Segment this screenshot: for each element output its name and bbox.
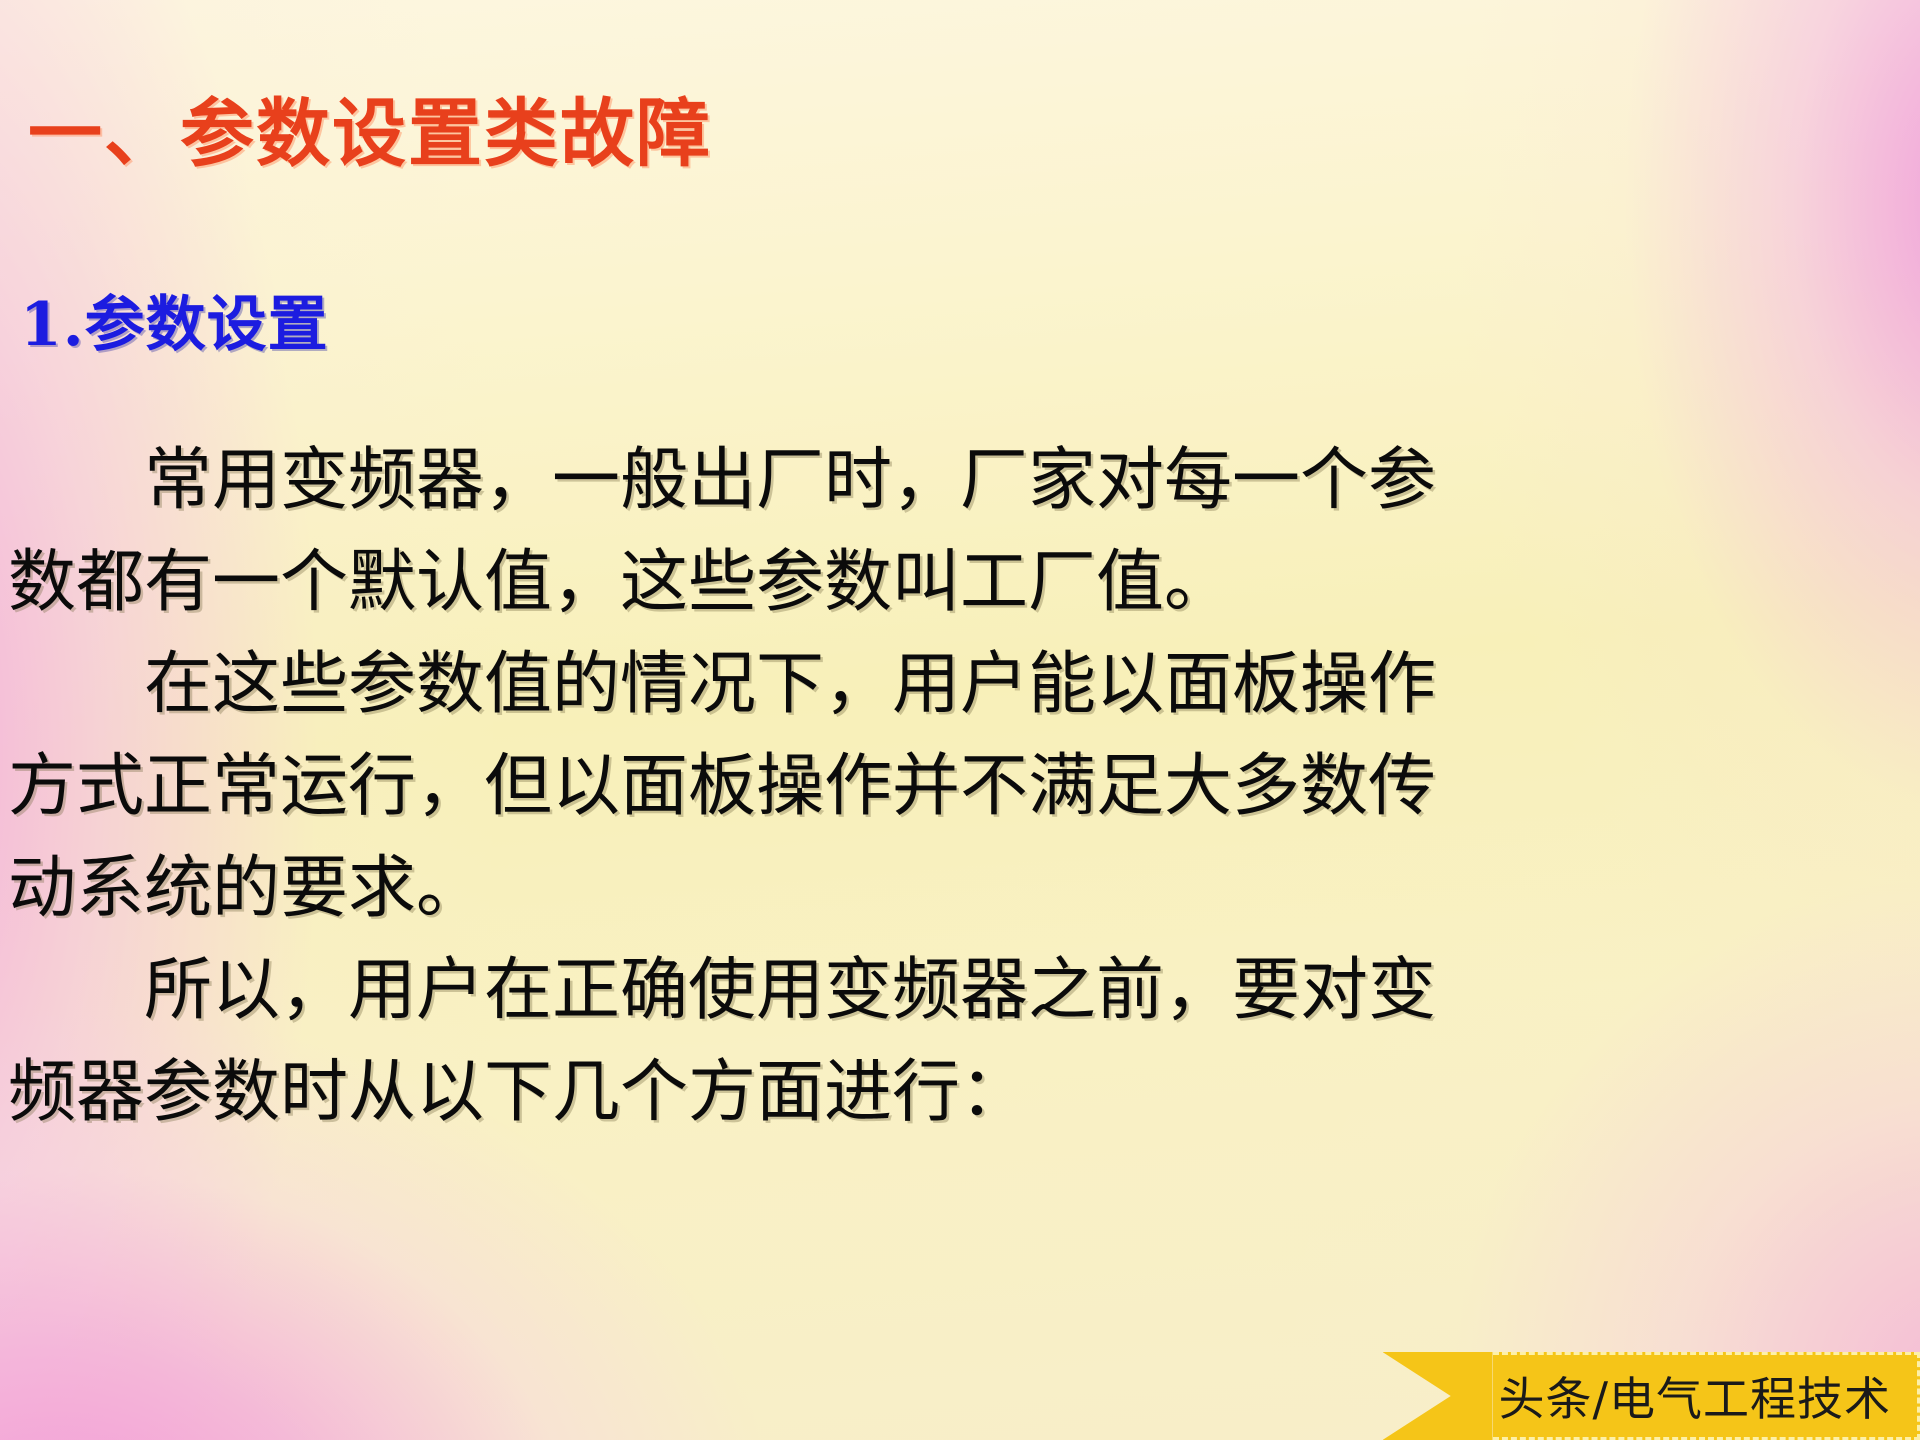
ribbon-chevron-icon	[1383, 1352, 1493, 1440]
paragraph-line: 动系统的要求。	[8, 838, 1568, 940]
section-heading: 1.参数设置	[20, 276, 329, 363]
slide-canvas: 一、参数设置类故障 1.参数设置 常用变频器，一般出厂时，厂家对每一个参 数都有…	[0, 0, 1920, 1440]
paragraph-2: 在这些参数值的情况下，用户能以面板操作 方式正常运行，但以面板操作并不满足大多数…	[8, 634, 1568, 940]
paragraph-line: 在这些参数值的情况下，用户能以面板操作	[8, 634, 1568, 736]
paragraph-line: 所以，用户在正确使用变频器之前，要对变	[8, 940, 1568, 1042]
watermark-banner: 头条/电气工程技术	[1383, 1352, 1920, 1440]
watermark-label: 头条/电气工程技术	[1499, 1363, 1892, 1429]
paragraph-3: 所以，用户在正确使用变频器之前，要对变 频器参数时从以下几个方面进行：	[8, 940, 1568, 1144]
paragraph-line: 常用变频器，一般出厂时，厂家对每一个参	[8, 430, 1568, 532]
page-title: 一、参数设置类故障	[28, 74, 712, 181]
paragraph-1: 常用变频器，一般出厂时，厂家对每一个参 数都有一个默认值，这些参数叫工厂值。	[8, 430, 1568, 634]
watermark-body: 头条/电气工程技术	[1493, 1352, 1920, 1440]
body-content: 常用变频器，一般出厂时，厂家对每一个参 数都有一个默认值，这些参数叫工厂值。 在…	[8, 430, 1568, 1144]
paragraph-line: 数都有一个默认值，这些参数叫工厂值。	[8, 532, 1568, 634]
paragraph-line: 频器参数时从以下几个方面进行：	[8, 1042, 1568, 1144]
paragraph-line: 方式正常运行，但以面板操作并不满足大多数传	[8, 736, 1568, 838]
